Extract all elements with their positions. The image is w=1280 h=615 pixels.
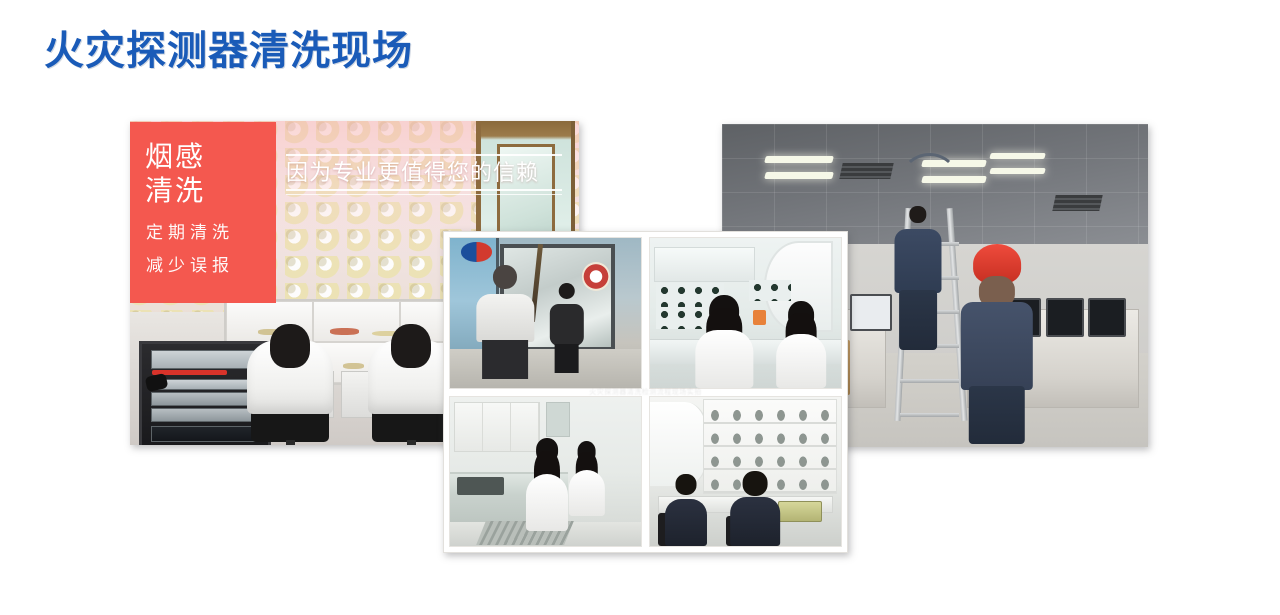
cleaning-technician-1 bbox=[526, 438, 568, 531]
orange-tool bbox=[753, 310, 766, 325]
collage-cell-inspection bbox=[449, 237, 642, 389]
console-screen-4 bbox=[1088, 298, 1126, 338]
upper-shelf bbox=[654, 247, 755, 282]
promo-title-line-2: 清洗 bbox=[145, 177, 205, 205]
worker-with-hardhat bbox=[961, 244, 1033, 444]
technician-seated-1 bbox=[665, 474, 707, 546]
console-screen-1 bbox=[850, 294, 892, 330]
promo-block: 烟感 清洗 定期清洗 减少误报 bbox=[130, 122, 276, 303]
detector-tray-3 bbox=[749, 280, 791, 301]
promo-sub-line-1: 定期清洗 bbox=[146, 224, 234, 241]
collage-cell-cleaning-station bbox=[449, 396, 642, 548]
lab-technician-2 bbox=[776, 301, 826, 388]
test-instrument bbox=[778, 501, 822, 522]
ceiling-light-2 bbox=[764, 172, 834, 179]
wall-emblem-icon bbox=[582, 262, 611, 291]
promo-sub-line-2: 减少误报 bbox=[146, 257, 234, 274]
person-white-shirt bbox=[477, 265, 534, 379]
collage-cell-storage-shelves bbox=[649, 396, 842, 548]
promo-title-line-1: 烟感 bbox=[145, 143, 205, 171]
page-title: 火灾探测器清洗现场 bbox=[44, 29, 413, 73]
cleaning-technician-2 bbox=[568, 441, 604, 516]
technician-seated-2 bbox=[730, 471, 780, 546]
ceiling-vent-2 bbox=[1053, 195, 1103, 211]
collage-cell-workbench bbox=[649, 237, 842, 389]
wall-panel bbox=[546, 402, 571, 437]
sink-basin bbox=[457, 477, 504, 494]
worker-on-ladder bbox=[892, 182, 943, 350]
lab-technician-1 bbox=[696, 295, 753, 388]
collage-faint-caption: 火灾探测器清洗检测流程现场实拍 bbox=[476, 387, 815, 397]
console-screen-3 bbox=[1046, 298, 1084, 338]
ceiling-light-1 bbox=[764, 156, 834, 163]
tagline-text: 因为专业更值得您的信赖 bbox=[286, 156, 562, 189]
tagline-rule-bottom-thin bbox=[286, 194, 562, 195]
person-dark-uniform bbox=[549, 283, 583, 373]
ceiling-light-5 bbox=[990, 153, 1047, 159]
ceiling-light-6 bbox=[990, 168, 1047, 174]
tagline-rule-bottom bbox=[286, 189, 562, 191]
door-logo-icon bbox=[461, 242, 492, 261]
worker-seated-left bbox=[242, 322, 338, 442]
tagline-block: 因为专业更值得您的信赖 bbox=[286, 154, 562, 195]
ceiling-vent-1 bbox=[840, 163, 895, 179]
photo-collage-card: 火灾探测器清洗检测流程现场实拍 bbox=[443, 231, 848, 553]
